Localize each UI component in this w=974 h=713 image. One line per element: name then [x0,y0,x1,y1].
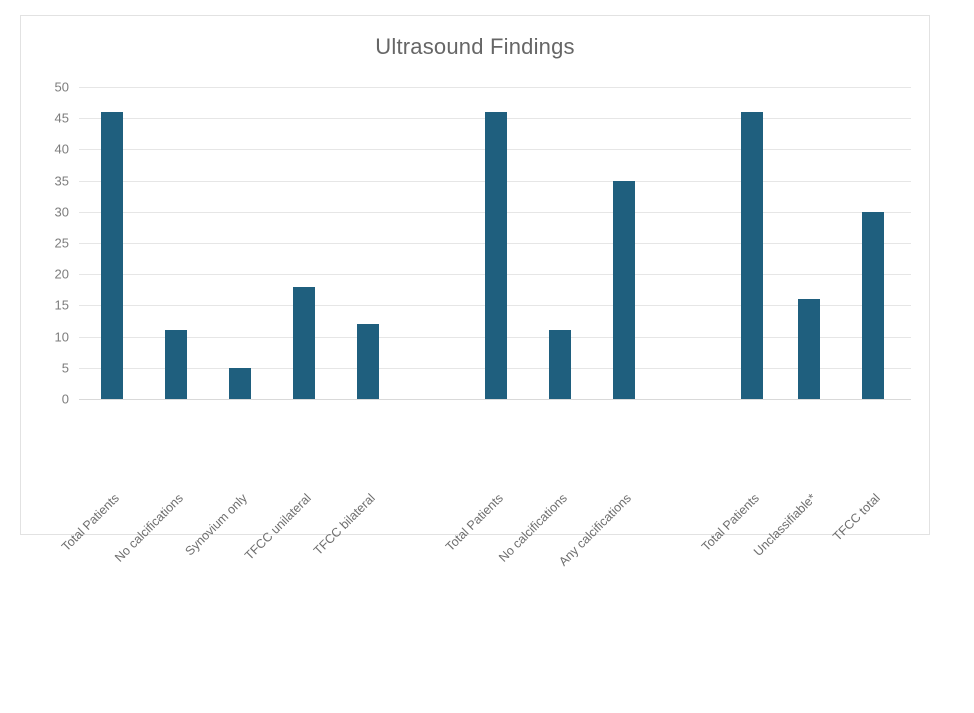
y-axis-tick-label: 25 [29,236,69,251]
chart-title: Ultrasound Findings [21,34,929,60]
x-axis-category-label: TFCC bilateral [156,491,378,713]
x-axis-category-label: Any calcifications [412,491,634,713]
bar[interactable] [741,112,763,399]
bar[interactable] [485,112,507,399]
y-axis-tick-label: 40 [29,142,69,157]
x-axis-category-label: Total Patients [540,491,762,713]
bar[interactable] [229,368,251,399]
bar[interactable] [101,112,123,399]
y-axis-tick-label: 10 [29,329,69,344]
x-axis-category-label: TFCC unilateral [92,491,314,713]
bar[interactable] [613,181,635,399]
bar[interactable] [798,299,820,399]
y-axis-tick-label: 0 [29,392,69,407]
x-axis-category-label: No calcifications [348,491,570,713]
x-axis-category-label: Synovium only [28,491,250,713]
bar[interactable] [862,212,884,399]
y-axis-tick-label: 20 [29,267,69,282]
y-axis-tick-label: 35 [29,173,69,188]
plot-area: 50454035302520151050Total PatientsNo cal… [79,87,911,399]
gridline-0 [79,399,911,400]
x-axis-category-label: Total Patients [284,491,506,713]
x-axis-category-label: Unclassifiable* [597,491,819,713]
bar[interactable] [165,330,187,399]
bar[interactable] [357,324,379,399]
gridline-50 [79,87,911,88]
y-axis-tick-label: 15 [29,298,69,313]
y-axis-tick-label: 30 [29,204,69,219]
y-axis-tick-label: 50 [29,80,69,95]
bar[interactable] [549,330,571,399]
page-bottom-strip [0,541,974,548]
x-axis-category-label: TFCC total [661,491,883,713]
y-axis-tick-label: 5 [29,360,69,375]
y-axis-tick-label: 45 [29,111,69,126]
bar[interactable] [293,287,315,399]
chart-container: Ultrasound Findings 50454035302520151050… [20,15,930,535]
